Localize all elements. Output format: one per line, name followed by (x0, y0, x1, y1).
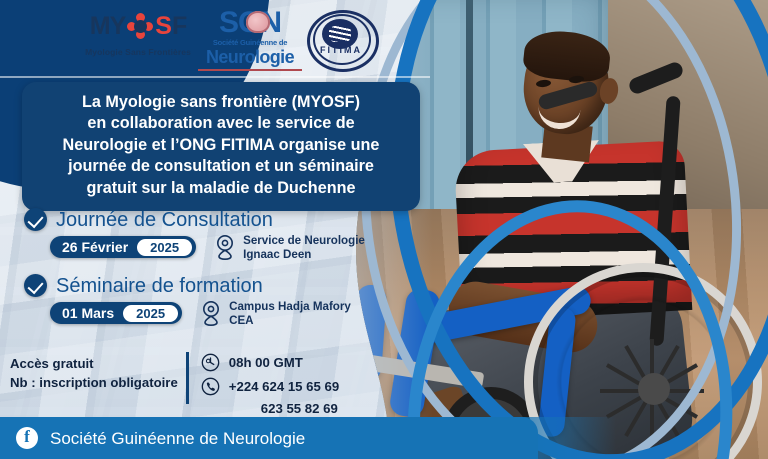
headline-line-1: La Myologie sans frontière (MYOSF) (34, 92, 408, 113)
facebook-page-name[interactable]: Société Guinéenne de Neurologie (50, 430, 305, 447)
event-location-line2: Ignaac Deen (243, 248, 365, 262)
sgn-rule (198, 69, 302, 71)
phone-number-2[interactable]: 623 55 82 69 (261, 401, 339, 417)
clock-icon (201, 353, 220, 372)
headline-line-2: en collaboration avec le service de (34, 113, 408, 134)
headline-box: La Myologie sans frontière (MYOSF) en co… (22, 82, 420, 211)
myosf-letter-s: S (155, 14, 171, 39)
logo-bar: MY S F Myologie Sans Frontières SGN Soci… (0, 0, 430, 74)
logo-fitima: FITIMA (305, 10, 377, 66)
myosf-letters-my: MY (90, 14, 126, 39)
myosf-letter-f: F (172, 14, 186, 39)
headline-line-4: journée de consultation et un séminaire (34, 156, 408, 177)
sgn-title: Neurologie (198, 48, 302, 68)
fitima-wordmark: FITIMA (315, 46, 367, 55)
myosf-tagline: Myologie Sans Frontières (78, 47, 198, 57)
event-date: 26 Février (62, 240, 128, 254)
flower-icon (127, 13, 153, 39)
phone-icon (201, 377, 220, 396)
event-location: Campus Hadja Mafory CEA (200, 300, 351, 328)
check-circle-icon (24, 208, 47, 231)
location-pin-icon (200, 300, 222, 326)
event-location-line1: Campus Hadja Mafory (229, 300, 351, 314)
info-section: Accès gratuit Nb : inscription obligatoi… (10, 352, 440, 417)
access-info: Accès gratuit Nb : inscription obligatoi… (10, 352, 178, 392)
date-badge: 01 Mars 2025 (50, 302, 182, 324)
event-year: 2025 (123, 305, 178, 322)
event-location-line2: CEA (229, 314, 351, 328)
headline-line-5: gratuit sur la maladie de Duchenne (34, 178, 408, 199)
events-list: Journée de Consultation 26 Février 2025 … (24, 208, 444, 341)
brain-icon (246, 11, 270, 33)
info-divider (186, 352, 189, 404)
event-title: Journée de Consultation (56, 210, 273, 230)
check-circle-icon (24, 274, 47, 297)
access-line-2: Nb : inscription obligatoire (10, 373, 178, 392)
footer-fade (496, 417, 616, 459)
event-location-line1: Service de Neurologie (243, 234, 365, 248)
event-time: 08h 00 GMT (229, 355, 303, 371)
date-badge: 26 Février 2025 (50, 236, 196, 258)
event-date: 01 Mars (62, 306, 114, 320)
poster: MY S F Myologie Sans Frontières SGN Soci… (0, 0, 768, 459)
event-location: Service de Neurologie Ignaac Deen (214, 234, 365, 262)
sgn-subtitle: Société Guinéenne de (198, 39, 302, 47)
event-title: Séminaire de formation (56, 276, 263, 296)
sgn-acronym: SGN (198, 8, 302, 38)
event-consultation: Journée de Consultation 26 Février 2025 … (24, 208, 444, 262)
location-pin-icon (214, 234, 236, 260)
event-year: 2025 (137, 239, 192, 256)
contact-info: 08h 00 GMT +224 624 15 65 69 623 55 82 6… (201, 352, 339, 417)
logo-sgn: SGN Société Guinéenne de Neurologie (198, 8, 302, 71)
logo-divider (0, 76, 430, 78)
phone-number-1[interactable]: +224 624 15 65 69 (229, 379, 339, 395)
event-seminar: Séminaire de formation 01 Mars 2025 Camp… (24, 274, 444, 328)
headline-line-3: Neurologie et l’ONG FITIMA organise une (34, 135, 408, 156)
logo-myosf: MY S F Myologie Sans Frontières (78, 12, 198, 57)
facebook-icon[interactable] (16, 427, 38, 449)
access-line-1: Accès gratuit (10, 354, 178, 373)
footer-bar: Société Guinéenne de Neurologie (0, 417, 538, 459)
